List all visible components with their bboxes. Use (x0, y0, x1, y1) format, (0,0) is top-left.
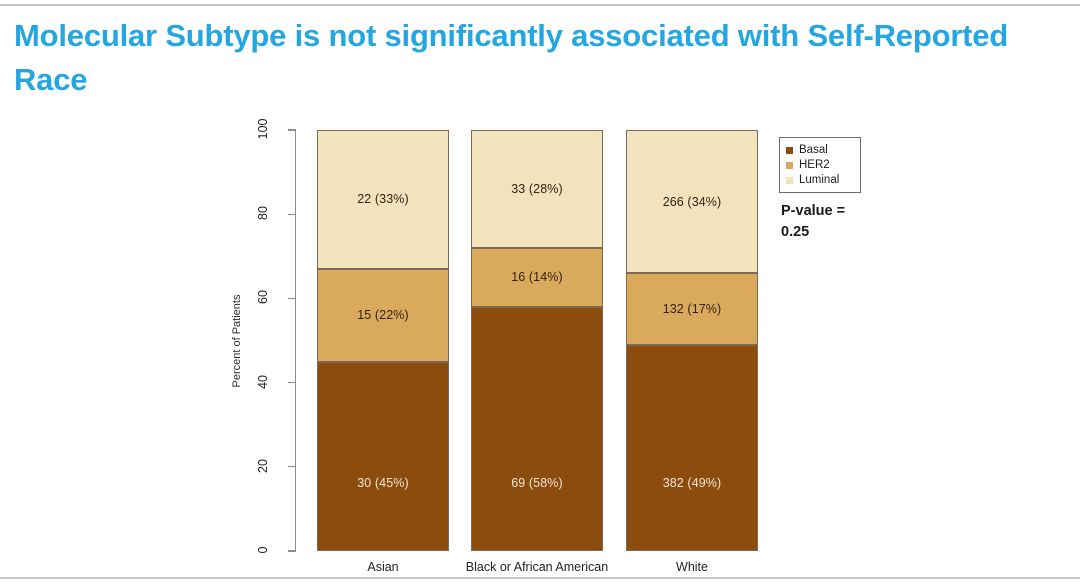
legend-label: Basal (799, 145, 828, 157)
bar-segment-label: 33 (28%) (511, 182, 563, 196)
y-axis-tick-label: 100 (256, 109, 270, 149)
y-axis-tick-label: 20 (256, 446, 270, 486)
bar-segment-luminal[interactable]: 22 (33%) (317, 130, 449, 269)
legend-swatch-luminal (786, 177, 793, 184)
y-axis-tick-label: 80 (256, 193, 270, 233)
legend-label: HER2 (799, 160, 830, 172)
legend-item[interactable]: HER2 (786, 158, 860, 173)
y-axis-tick-label: 60 (256, 277, 270, 317)
y-axis-label: Percent of Patients (231, 295, 243, 388)
stacked-bar[interactable]: 30 (45%)15 (22%)22 (33%) (317, 130, 449, 551)
bar-segment-label: 16 (14%) (511, 270, 563, 284)
stacked-bar-chart: Percent of Patients 020406080100 30 (45%… (0, 0, 1080, 586)
slide-canvas: Molecular Subtype is not significantly a… (0, 0, 1080, 586)
x-axis-tick-label: Asian (367, 560, 398, 574)
bar-segment-basal[interactable]: 69 (58%) (471, 307, 603, 551)
y-axis-tick-label: 0 (256, 530, 270, 570)
chart-legend: BasalHER2Luminal (779, 137, 861, 193)
bar-segment-luminal[interactable]: 33 (28%) (471, 130, 603, 248)
x-axis-tick-label: Black or African American (466, 560, 608, 574)
bar-segment-label: 69 (58%) (511, 476, 563, 490)
legend-label: Luminal (799, 175, 839, 187)
pvalue-annotation: P-value = 0.25 (781, 201, 901, 243)
y-axis-tick-mark (288, 550, 296, 551)
bar-segment-her2[interactable]: 16 (14%) (471, 248, 603, 307)
y-axis-tick-mark (288, 214, 296, 215)
bar-segment-her2[interactable]: 132 (17%) (626, 273, 758, 345)
legend-swatch-her2 (786, 162, 793, 169)
bar-segment-basal[interactable]: 30 (45%) (317, 362, 449, 551)
y-axis-tick-mark (288, 298, 296, 299)
bar-segment-her2[interactable]: 15 (22%) (317, 269, 449, 362)
legend-swatch-basal (786, 147, 793, 154)
y-axis-tick-label: 40 (256, 362, 270, 402)
y-axis-line (295, 130, 296, 551)
y-axis-tick-mark (288, 466, 296, 467)
stacked-bar[interactable]: 382 (49%)132 (17%)266 (34%) (626, 130, 758, 551)
y-axis-tick-mark (288, 382, 296, 383)
y-axis-tick-mark (288, 129, 296, 130)
bar-segment-basal[interactable]: 382 (49%) (626, 345, 758, 551)
stacked-bar[interactable]: 69 (58%)16 (14%)33 (28%) (471, 130, 603, 551)
legend-item[interactable]: Basal (786, 143, 860, 158)
bar-segment-label: 266 (34%) (663, 195, 722, 209)
bar-segment-label: 15 (22%) (357, 308, 409, 322)
bar-segment-label: 22 (33%) (357, 192, 409, 206)
bar-segment-label: 30 (45%) (357, 476, 409, 490)
bar-segment-luminal[interactable]: 266 (34%) (626, 130, 758, 273)
legend-item[interactable]: Luminal (786, 173, 860, 188)
x-axis-tick-label: White (676, 560, 708, 574)
bar-segment-label: 382 (49%) (663, 476, 722, 490)
bar-segment-label: 132 (17%) (663, 302, 722, 316)
